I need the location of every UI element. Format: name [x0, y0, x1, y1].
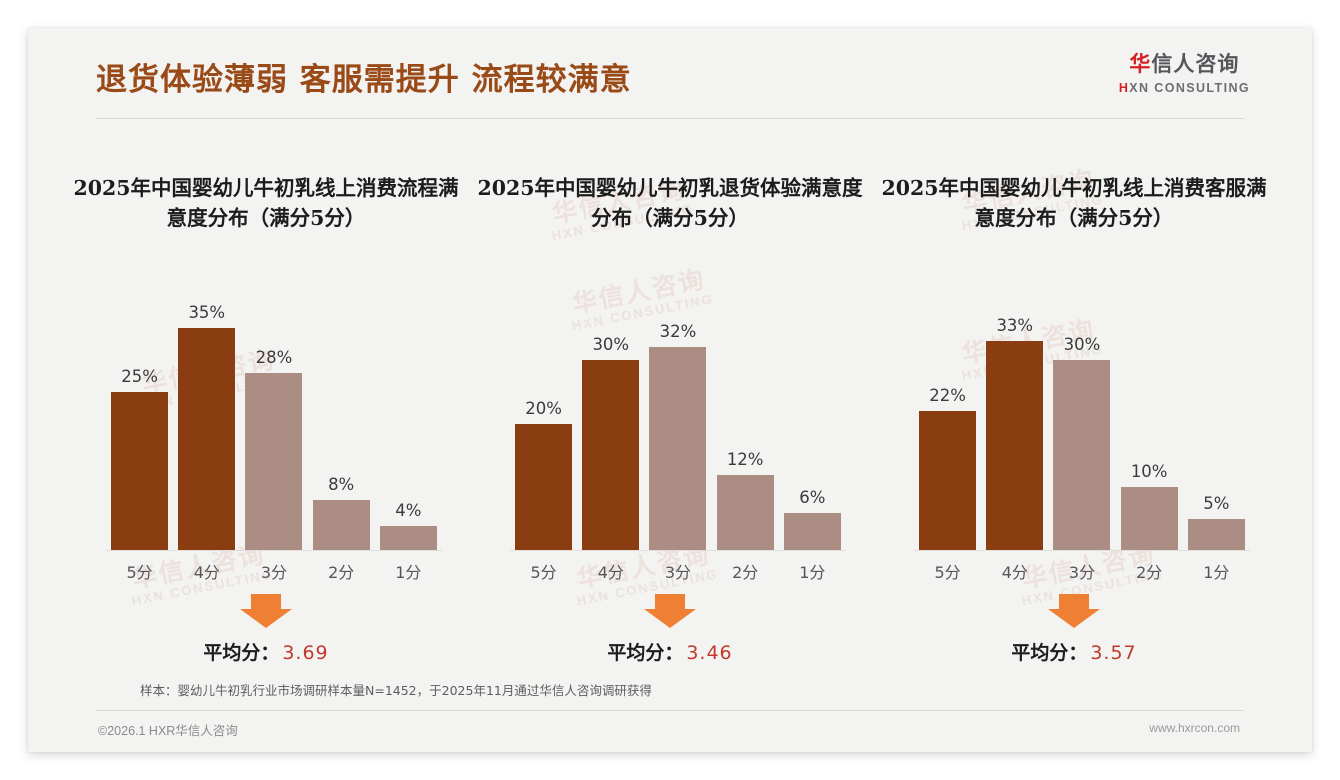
x-axis-tick-row: 5分4分3分2分1分	[106, 551, 442, 591]
bar-slot[interactable]: 33%	[985, 296, 1045, 551]
bar[interactable]	[717, 475, 774, 552]
x-axis-tick-row: 5分4分3分2分1分	[914, 551, 1250, 591]
bar-slot[interactable]: 12%	[715, 296, 775, 551]
logo-chinese-rest: 信人咨询	[1151, 52, 1239, 76]
chart-plot-area: 25%35%28%8%4%5分4分3分2分1分	[106, 296, 442, 551]
slide-header: 退货体验薄弱 客服需提升 流程较满意 华信人咨询 HXN CONSULTING	[28, 28, 1312, 120]
bar[interactable]	[515, 424, 572, 552]
bar-value-label: 4%	[395, 501, 421, 520]
chart-plot-area: 20%30%32%12%6%5分4分3分2分1分	[510, 296, 846, 551]
logo-chinese-name: 华信人咨询	[1119, 54, 1250, 75]
bar-slot[interactable]: 8%	[311, 296, 371, 551]
bar[interactable]	[1053, 360, 1110, 551]
bar[interactable]	[245, 373, 302, 552]
average-score-label: 平均分：	[203, 642, 279, 664]
average-score: 平均分：3.69	[64, 638, 468, 665]
bar-slot[interactable]: 5%	[1186, 296, 1246, 551]
sample-footnote: 样本：婴幼儿牛初乳行业市场调研样本量N=1452，于2025年11月通过华信人咨…	[140, 680, 652, 699]
chart-title: 2025年中国婴幼儿牛初乳退货体验满意度分布（满分5分）	[474, 174, 866, 233]
bar-slot[interactable]: 6%	[782, 296, 842, 551]
x-axis-tick-label: 3分	[648, 559, 708, 583]
x-axis-tick-label: 4分	[177, 559, 237, 583]
x-axis-tick-label: 1分	[378, 559, 438, 583]
chart-panel: 2025年中国婴幼儿牛初乳线上消费客服满意度分布（满分5分）22%33%30%1…	[872, 146, 1276, 646]
average-score-value: 3.57	[1090, 642, 1136, 664]
bar-slot[interactable]: 28%	[244, 296, 304, 551]
average-score: 平均分：3.57	[872, 638, 1276, 665]
down-arrow-icon	[644, 594, 696, 628]
bar-slot[interactable]: 30%	[581, 296, 641, 551]
x-axis-tick-label: 5分	[513, 559, 573, 583]
x-axis-tick-label: 4分	[985, 559, 1045, 583]
bar[interactable]	[178, 328, 235, 551]
average-score-value: 3.69	[282, 642, 328, 664]
bar-value-label: 5%	[1203, 494, 1229, 513]
x-axis-tick-label: 2分	[1119, 559, 1179, 583]
bar[interactable]	[111, 392, 168, 551]
down-arrow-icon	[240, 594, 292, 628]
bar-group: 22%33%30%10%5%	[914, 296, 1250, 551]
chart-panel: 2025年中国婴幼儿牛初乳退货体验满意度分布（满分5分）20%30%32%12%…	[468, 146, 872, 646]
bar[interactable]	[649, 347, 706, 551]
bar-group: 25%35%28%8%4%	[106, 296, 442, 551]
bar-slot[interactable]: 35%	[177, 296, 237, 551]
x-axis-tick-label: 2分	[715, 559, 775, 583]
bar-value-label: 35%	[188, 303, 225, 322]
down-arrow-icon	[1048, 594, 1100, 628]
x-axis-tick-label: 2分	[311, 559, 371, 583]
bar-value-label: 28%	[256, 348, 293, 367]
bar-slot[interactable]: 4%	[378, 296, 438, 551]
average-score-label: 平均分：	[1011, 642, 1087, 664]
average-score-label: 平均分：	[607, 642, 683, 664]
bar-slot[interactable]: 10%	[1119, 296, 1179, 551]
x-axis-tick-label: 4分	[581, 559, 641, 583]
logo-char-hua: 华	[1129, 52, 1151, 76]
bar[interactable]	[784, 513, 841, 551]
bar[interactable]	[380, 526, 437, 552]
chart-title: 2025年中国婴幼儿牛初乳线上消费流程满意度分布（满分5分）	[70, 174, 462, 233]
bar[interactable]	[1188, 519, 1245, 551]
footer-website[interactable]: www.hxrcon.com	[1149, 721, 1240, 735]
chart-plot-area: 22%33%30%10%5%5分4分3分2分1分	[914, 296, 1250, 551]
bar-slot[interactable]: 20%	[513, 296, 573, 551]
bar-slot[interactable]: 22%	[917, 296, 977, 551]
x-axis-tick-label: 5分	[917, 559, 977, 583]
bar[interactable]	[582, 360, 639, 551]
bar-slot[interactable]: 30%	[1052, 296, 1112, 551]
bar-value-label: 30%	[1064, 335, 1101, 354]
average-score: 平均分：3.46	[468, 638, 872, 665]
bar-value-label: 12%	[727, 450, 764, 469]
header-divider	[96, 118, 1244, 119]
bar[interactable]	[1121, 487, 1178, 551]
bar-slot[interactable]: 25%	[109, 296, 169, 551]
x-axis-tick-label: 3分	[244, 559, 304, 583]
footer-divider	[96, 710, 1244, 711]
bar-value-label: 22%	[929, 386, 966, 405]
company-logo: 华信人咨询 HXN CONSULTING	[1119, 54, 1250, 95]
bar[interactable]	[919, 411, 976, 551]
chart-panel: 2025年中国婴幼儿牛初乳线上消费流程满意度分布（满分5分）25%35%28%8…	[64, 146, 468, 646]
bar[interactable]	[313, 500, 370, 551]
charts-container: 2025年中国婴幼儿牛初乳线上消费流程满意度分布（满分5分）25%35%28%8…	[64, 146, 1276, 646]
bar-value-label: 10%	[1131, 462, 1168, 481]
slide-canvas: 华信人咨询 HXN CONSULTING 华信人咨询 HXN CONSULTIN…	[28, 28, 1312, 752]
chart-title: 2025年中国婴幼儿牛初乳线上消费客服满意度分布（满分5分）	[878, 174, 1270, 233]
bar-group: 20%30%32%12%6%	[510, 296, 846, 551]
bar[interactable]	[986, 341, 1043, 551]
bar-value-label: 25%	[121, 367, 158, 386]
bar-value-label: 6%	[799, 488, 825, 507]
x-axis-tick-label: 3分	[1052, 559, 1112, 583]
bar-slot[interactable]: 32%	[648, 296, 708, 551]
bar-value-label: 33%	[996, 316, 1033, 335]
bar-value-label: 8%	[328, 475, 354, 494]
logo-english-name: HXN CONSULTING	[1119, 82, 1250, 95]
bar-value-label: 30%	[592, 335, 629, 354]
logo-english-rest: XN CONSULTING	[1129, 81, 1250, 95]
x-axis-tick-label: 5分	[109, 559, 169, 583]
logo-char-h: H	[1119, 81, 1129, 95]
x-axis-tick-label: 1分	[1186, 559, 1246, 583]
x-axis-tick-row: 5分4分3分2分1分	[510, 551, 846, 591]
average-score-value: 3.46	[686, 642, 732, 664]
x-axis-tick-label: 1分	[782, 559, 842, 583]
bar-value-label: 20%	[525, 399, 562, 418]
page-title: 退货体验薄弱 客服需提升 流程较满意	[96, 54, 632, 99]
footer-copyright: ©2026.1 HXR华信人咨询	[98, 720, 238, 739]
bar-value-label: 32%	[660, 322, 697, 341]
